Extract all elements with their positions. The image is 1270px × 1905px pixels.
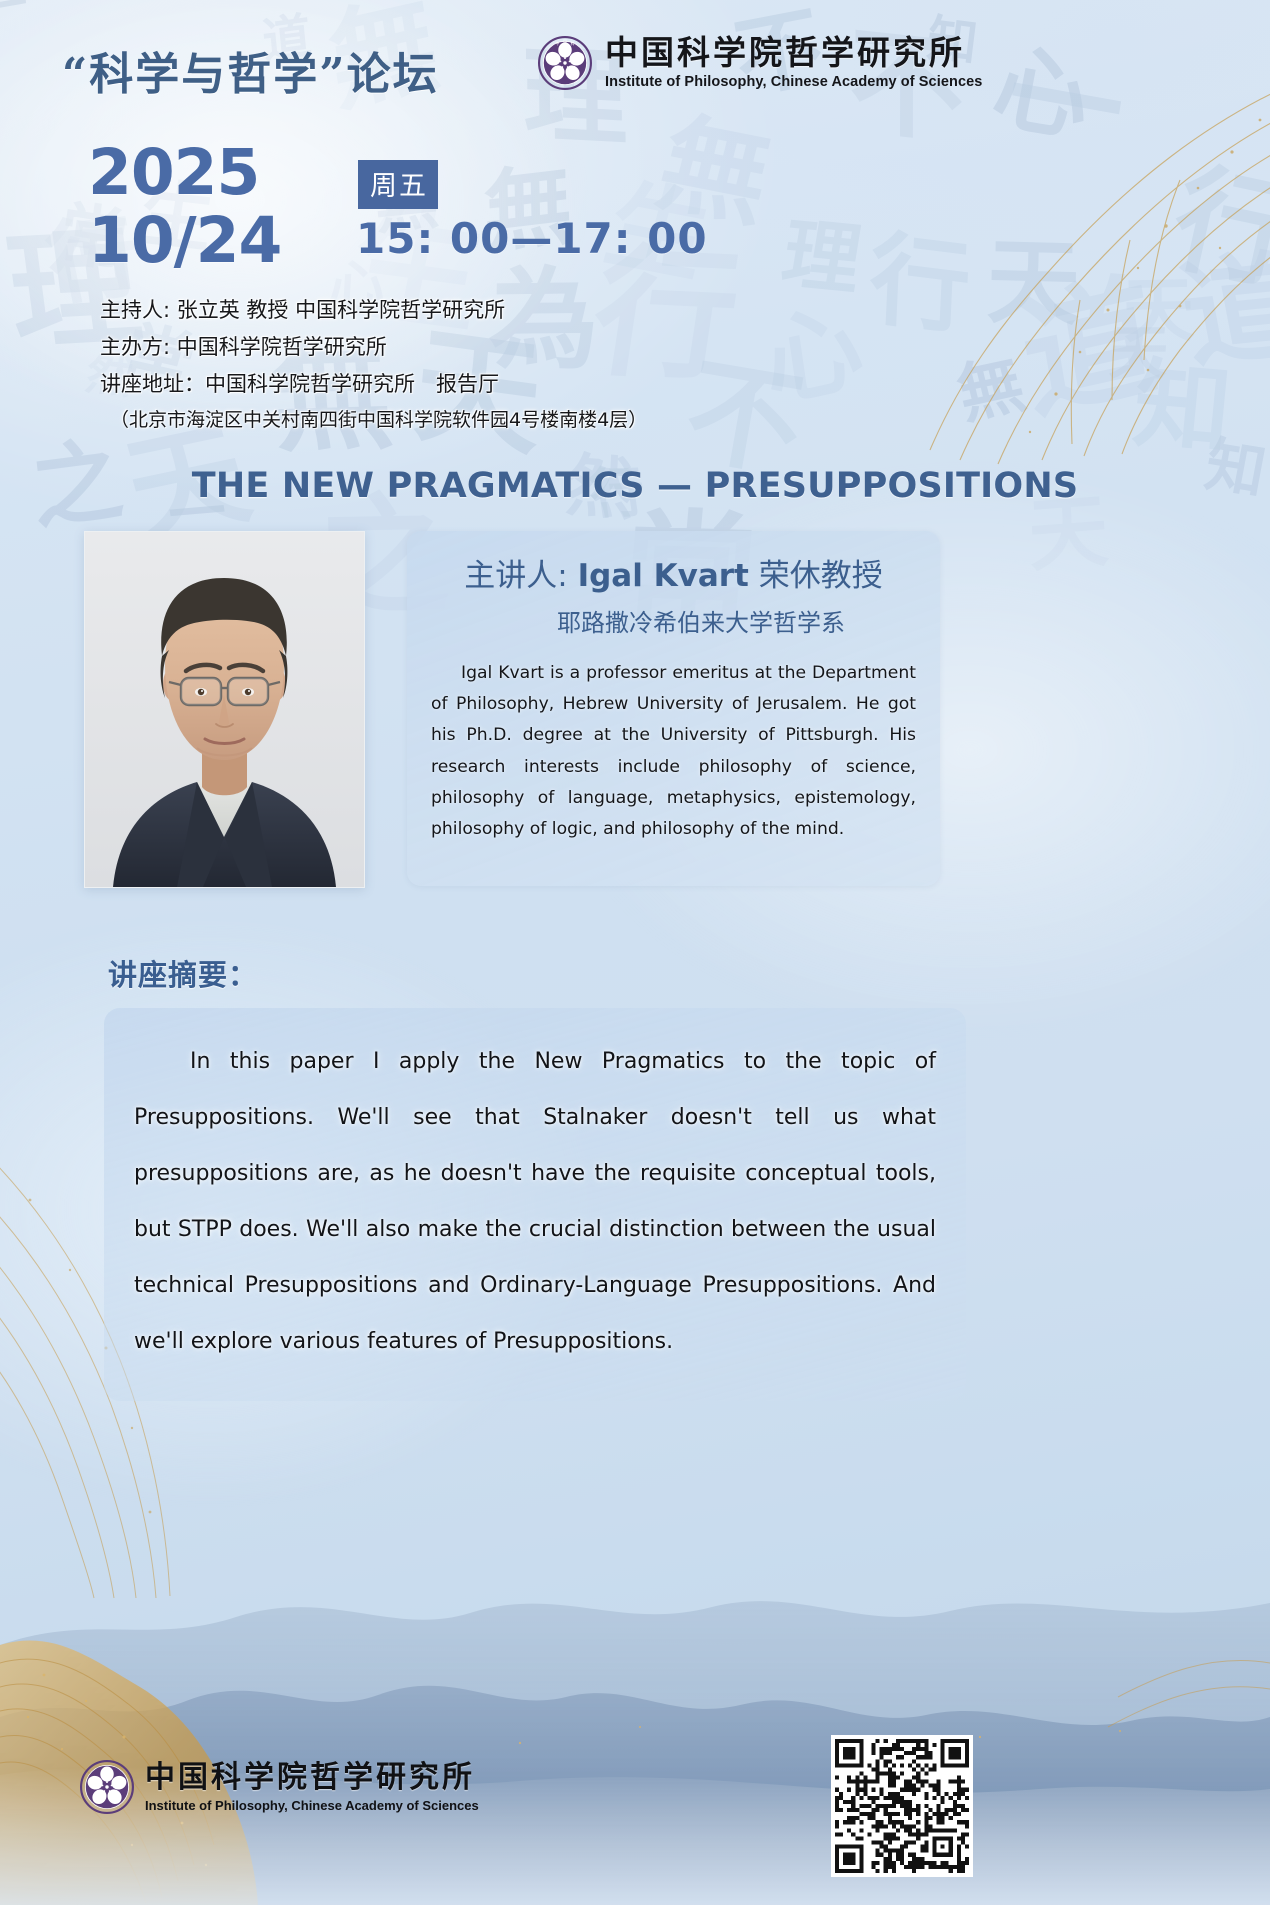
svg-text:科: 科 xyxy=(571,41,575,46)
calligraphy-glyph: 行 xyxy=(1160,123,1270,314)
speaker-info-card: 主讲人: Igal Kvart 荣休教授 耶路撒冷希伯来大学哲学系 Igal K… xyxy=(407,531,940,886)
speaker-bio: Igal Kvart is a professor emeritus at th… xyxy=(431,658,916,846)
info-address: （北京市海淀区中关村南四街中国科学院软件园4号楼南楼4层） xyxy=(110,411,1000,430)
plum-blossom-seal-icon xyxy=(80,1760,134,1814)
event-date-block: 2025 10/24 xyxy=(88,142,281,271)
speaker-name-prefix: 主讲人: xyxy=(464,558,577,594)
institute-brand-footer: 中国科学院哲学研究所 Institute of Philosophy, Chin… xyxy=(80,1760,479,1814)
speaker-name-line: 主讲人: Igal Kvart 荣休教授 xyxy=(431,559,916,595)
poster-canvas: 天生不知理不然天心無無無行行一無常然無心常天天一無理之一天行為生天道行道常道知行… xyxy=(0,0,1270,1905)
lecture-title: THE NEW PRAGMATICS — PRESUPPOSITIONS xyxy=(0,466,1270,506)
speaker-name: Igal Kvart xyxy=(578,558,749,594)
calligraphy-glyph: 一 xyxy=(0,0,29,43)
calligraphy-glyph: 知 xyxy=(1129,325,1239,473)
abstract-card: In this paper I apply the New Pragmatics… xyxy=(104,1008,966,1401)
plum-blossom-seal-icon: 中国科 xyxy=(538,36,592,90)
calligraphy-glyph: 道 xyxy=(1166,210,1270,390)
institute-name-cn-footer: 中国科学院哲学研究所 xyxy=(145,1763,479,1793)
speaker-portrait xyxy=(84,531,365,888)
qr-code-icon[interactable] xyxy=(831,1735,973,1877)
forum-title: “科学与哲学”论坛 xyxy=(62,38,439,102)
svg-text:国: 国 xyxy=(563,39,567,44)
calligraphy-glyph: 理 xyxy=(775,192,870,310)
speaker-name-suffix: 荣休教授 xyxy=(749,558,883,594)
event-time-range: 15: 00—17: 00 xyxy=(356,214,708,263)
info-host: 主持人: 张立英 教授 中国科学院哲学研究所 xyxy=(100,300,1000,321)
speaker-affiliation: 耶路撒冷希伯来大学哲学系 xyxy=(486,603,916,638)
info-organizer: 主办方: 中国科学院哲学研究所 xyxy=(100,337,1000,358)
ink-wash-mountains xyxy=(0,1345,1270,1905)
calligraphy-glyph: 一 xyxy=(998,1,1136,185)
calligraphy-glyph: 天 xyxy=(1122,253,1195,356)
institute-name-en: Institute of Philosophy, Chinese Academy… xyxy=(605,75,982,90)
institute-brand-header: 中国科 中国科学院哲学研究所 Institute of Philosophy, … xyxy=(538,36,982,90)
abstract-label: 讲座摘要： xyxy=(108,952,258,994)
calligraphy-glyph: 心 xyxy=(984,11,1103,161)
institute-name-en-footer: Institute of Philosophy, Chinese Academy… xyxy=(145,1799,479,1812)
abstract-text: In this paper I apply the New Pragmatics… xyxy=(134,1034,936,1371)
calligraphy-glyph: 天 xyxy=(1107,305,1172,390)
calligraphy-glyph: 道 xyxy=(1005,225,1169,447)
svg-text:中: 中 xyxy=(556,41,560,46)
event-info-block: 主持人: 张立英 教授 中国科学院哲学研究所 主办方: 中国科学院哲学研究所 讲… xyxy=(100,300,1000,430)
event-year: 2025 xyxy=(88,142,281,204)
event-weekday-badge: 周五 xyxy=(358,160,438,209)
event-date: 10/24 xyxy=(88,210,281,272)
institute-name-cn: 中国科学院哲学研究所 xyxy=(605,36,982,69)
info-venue: 讲座地址：中国科学院哲学研究所 报告厅 xyxy=(100,374,1000,395)
